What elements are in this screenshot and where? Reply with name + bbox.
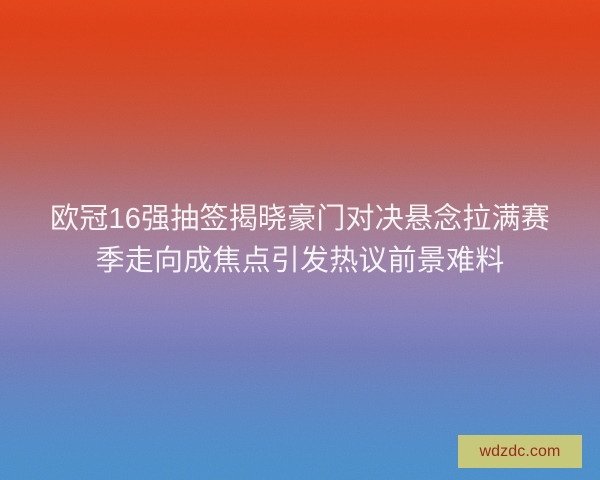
watermark-badge: wdzdc.com: [458, 435, 582, 468]
watermark-label: wdzdc.com: [480, 444, 561, 460]
headline-text: 欧冠16强抽签揭晓豪门对决悬念拉满赛 季走向成焦点引发热议前景难料: [30, 198, 570, 282]
headline-line-1: 欧冠16强抽签揭晓豪门对决悬念拉满赛: [30, 198, 570, 240]
headline-line-2: 季走向成焦点引发热议前景难料: [30, 240, 570, 282]
cover-image-canvas: 欧冠16强抽签揭晓豪门对决悬念拉满赛 季走向成焦点引发热议前景难料 wdzdc.…: [0, 0, 600, 480]
